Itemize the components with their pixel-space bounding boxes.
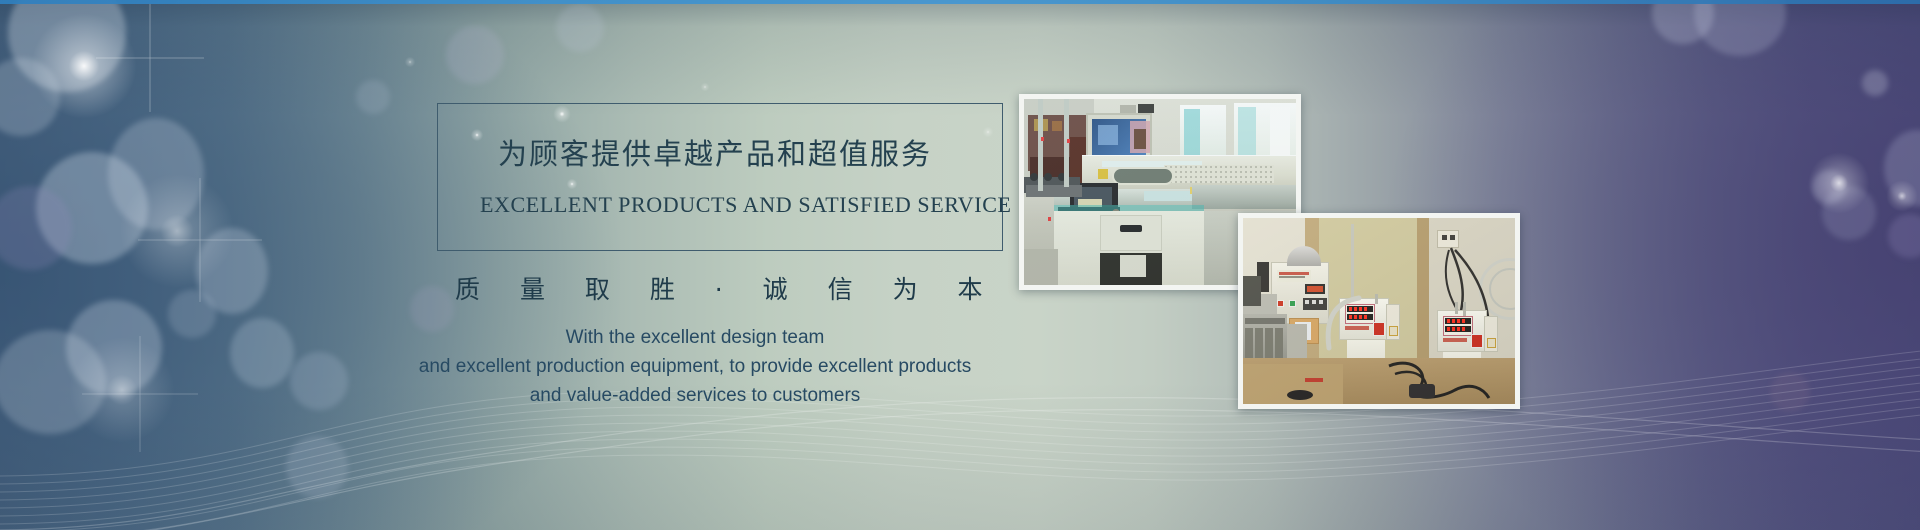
slogan-chinese: 质 量 取 胜 · 诚 信 为 本	[455, 270, 995, 306]
promo-banner: 为顾客提供卓越产品和超值服务 EXCELLENT PRODUCTS AND SA…	[0, 0, 1920, 530]
banner-text-column: 为顾客提供卓越产品和超值服务 EXCELLENT PRODUCTS AND SA…	[0, 0, 1060, 530]
headline-english: EXCELLENT PRODUCTS AND SATISFIED SERVICE	[480, 192, 960, 218]
headline-frame	[437, 103, 1003, 251]
description-paragraph: With the excellent design team and excel…	[330, 323, 1060, 410]
headline-chinese: 为顾客提供卓越产品和超值服务	[498, 131, 948, 173]
crimping-machines-photo	[1238, 213, 1520, 409]
